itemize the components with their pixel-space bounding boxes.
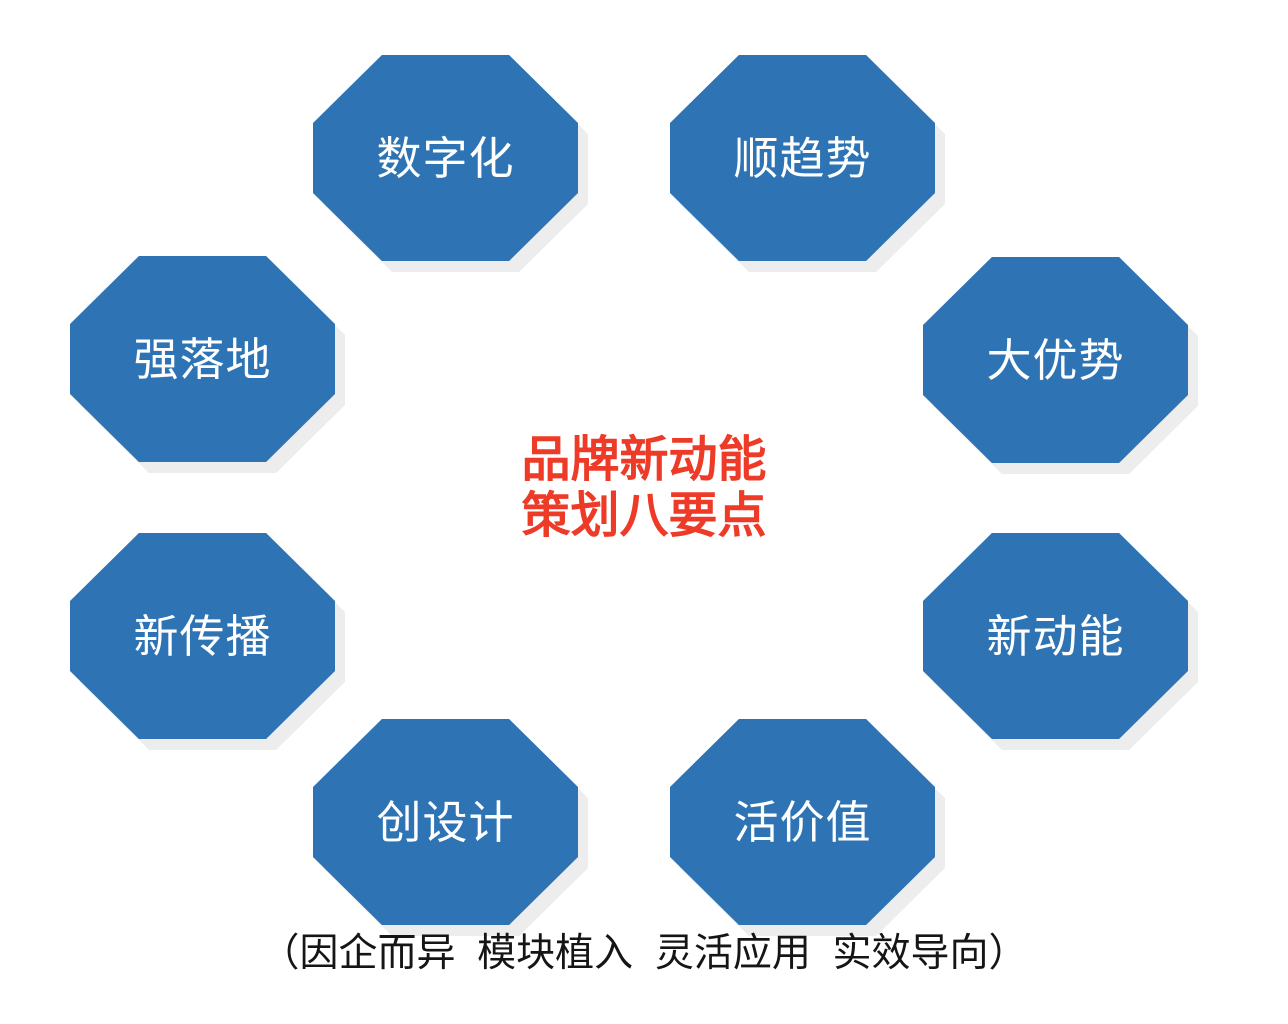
octagon-node-new-momentum[interactable]: 新动能	[923, 533, 1188, 739]
octagon-label: 活价值	[733, 800, 871, 845]
center-title-line-1: 品牌新动能	[0, 432, 1288, 488]
octagon-node-follow-trend[interactable]: 顺趋势	[670, 55, 935, 261]
octagon-node-creative-design[interactable]: 创设计	[313, 719, 578, 925]
octagon-label: 新动能	[986, 614, 1124, 659]
octagon-node-digitalization[interactable]: 数字化	[313, 55, 578, 261]
octagon-label: 顺趋势	[733, 136, 871, 181]
octagon-label: 创设计	[376, 800, 514, 845]
octagon-label: 数字化	[376, 136, 514, 181]
octagon-node-new-communication[interactable]: 新传播	[70, 533, 335, 739]
octagon-label: 强落地	[133, 337, 271, 382]
octagon-node-living-value[interactable]: 活价值	[670, 719, 935, 925]
octagon-label: 大优势	[986, 338, 1124, 383]
diagram-canvas: 数字化 顺趋势 大优势 新动能 活价值 创设计 新传播 强落地	[0, 0, 1288, 1024]
center-title: 品牌新动能 策划八要点	[0, 432, 1288, 544]
octagon-label: 新传播	[133, 614, 271, 659]
center-title-line-2: 策划八要点	[0, 488, 1288, 544]
footer-caption: （因企而异 模块植入 灵活应用 实效导向）	[0, 930, 1288, 978]
